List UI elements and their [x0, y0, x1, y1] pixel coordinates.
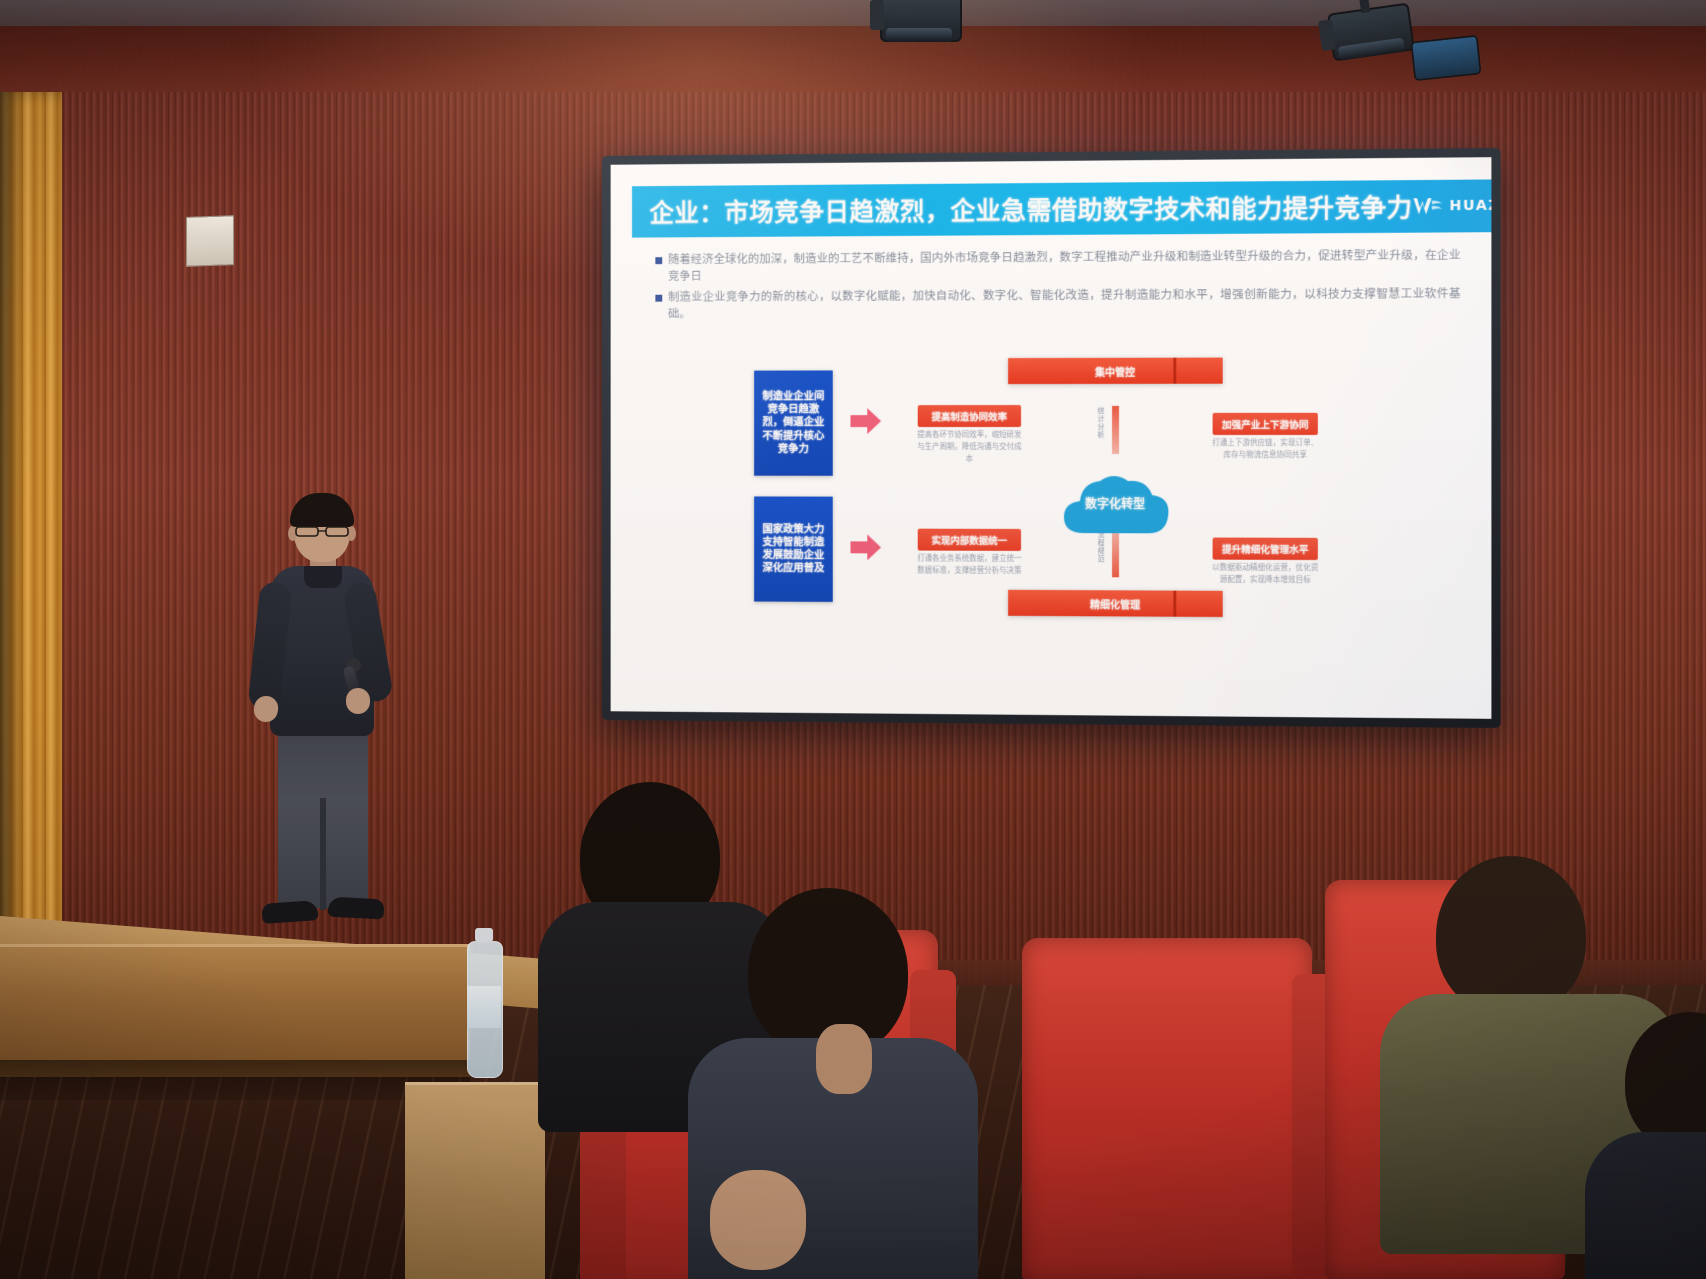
display-panel: 企业：市场竞争日趋激烈，企业急需借助数字技术和能力提升竞争力 HUAZHI 随着 [611, 157, 1492, 719]
slide-diagram: 制造业企业间竞争日趋激烈，倒逼企业不断提升核心竞争力 国家政策大力支持智能制造发… [611, 350, 1492, 715]
presenter-leg-split [320, 798, 326, 910]
arrow-right-icon [849, 406, 883, 436]
auditorium-photo: 企业：市场竞争日趋激烈，企业急需借助数字技术和能力提升竞争力 HUAZHI 随着 [0, 0, 1706, 1279]
w-wing-mark [1413, 195, 1444, 217]
curtain-shadow [0, 92, 24, 992]
brand-logo: HUAZHI [1413, 194, 1492, 217]
audience-shoulders [1585, 1132, 1706, 1279]
stage-shadow [0, 1060, 470, 1100]
outcome-body-fine-mgmt: 以数据驱动精细化运营，优化资源配置，实现降本增效目标 [1211, 562, 1320, 587]
side-table [405, 1082, 545, 1279]
center-bar-fine-mgmt: 精细化管理 [1008, 590, 1223, 617]
bullet-item: 随着经济全球化的加深，制造业的工艺不断维持，国内外市场竞争日趋激烈，数字工程推动… [655, 247, 1460, 285]
slide-bullets: 随着经济全球化的加深，制造业的工艺不断维持，国内外市场竞争日趋激烈，数字工程推动… [655, 247, 1460, 327]
presenter-collar [304, 566, 342, 588]
bullet-text: 制造业企业竞争力的新的核心，以数字化赋能，加快自动化、数字化、智能化改造，提升制… [668, 285, 1461, 322]
axis-label-analysis: 统计分析 [1096, 407, 1106, 439]
ceiling-spotlight [880, 0, 962, 42]
bullet-square-icon [655, 257, 662, 264]
spotlight-housing [1411, 35, 1482, 81]
bar-notch [1173, 591, 1176, 617]
audience-head [1436, 856, 1586, 1016]
presenter-hand-right [346, 688, 370, 714]
spotlight-bracket [870, 0, 884, 30]
spotlight-lens [886, 28, 952, 42]
slide-canvas: 企业：市场竞争日趋激烈，企业急需借助数字技术和能力提升竞争力 HUAZHI 随着 [611, 157, 1492, 719]
bottle-cap [475, 928, 493, 942]
outcome-body-supply-chain: 打通上下游供应链，实现订单、库存与物流信息协同共享 [1211, 437, 1320, 461]
bullet-text: 随着经济全球化的加深，制造业的工艺不断维持，国内外市场竞争日趋激烈，数字工程推动… [668, 247, 1461, 285]
cloud-label: 数字化转型 [1056, 495, 1174, 512]
center-bar-control-label: 集中管控 [1095, 363, 1135, 378]
digital-transformation-cloud: 数字化转型 [1056, 467, 1174, 541]
audience-hand [710, 1170, 806, 1270]
need-title-collaboration: 提高制造协同效率 [918, 405, 1021, 427]
ceiling-spotlight [1411, 35, 1482, 81]
eyeglasses-icon [295, 526, 349, 537]
driver-box-competition: 制造业企业间竞争日趋激烈，倒逼企业不断提升核心竞争力 [754, 370, 833, 475]
bullet-item: 制造业企业竞争力的新的核心，以数字化赋能，加快自动化、数字化、智能化改造，提升制… [655, 285, 1460, 322]
logo-text: HUAZHI [1449, 197, 1491, 214]
wall-speaker-box [186, 215, 234, 267]
presentation-display[interactable]: 企业：市场竞争日趋激烈，企业急需借助数字技术和能力提升竞争力 HUAZHI 随着 [602, 148, 1501, 728]
center-bar-fine-mgmt-label: 精细化管理 [1090, 596, 1140, 611]
need-title-data-unify: 实现内部数据统一 [918, 529, 1021, 551]
outcome-title-supply-chain: 加强产业上下游协同 [1213, 413, 1318, 435]
outcome-title-fine-mgmt: 提升精细化管理水平 [1213, 538, 1318, 561]
slide-title: 企业：市场竞争日趋激烈，企业急需借助数字技术和能力提升竞争力 [650, 188, 1413, 229]
arrow-right-icon [849, 532, 883, 562]
need-body-collaboration: 提高各环节协同效率，缩短研发与生产周期，降低沟通与交付成本 [916, 429, 1023, 465]
spotlight-arm [1358, 0, 1370, 13]
presenter-shoe-left [261, 900, 318, 924]
ceiling-strip [0, 0, 1706, 26]
bottle-label [467, 986, 501, 1028]
audience-face [816, 1024, 872, 1094]
stage-platform-front [0, 944, 470, 1077]
presenter-shoe-right [328, 897, 385, 920]
driver-box-policy: 国家政策大力支持智能制造发展鼓励企业深化应用普及 [754, 496, 833, 601]
need-body-data-unify: 打通各业务系统数据，建立统一数据标准，支撑经营分析与决策 [916, 553, 1023, 577]
center-connector-top [1112, 406, 1119, 454]
seat-back [1022, 938, 1312, 1279]
presenter-hair [290, 493, 354, 527]
slide-title-bar: 企业：市场竞争日趋激烈，企业急需借助数字技术和能力提升竞争力 HUAZHI [632, 179, 1491, 237]
bullet-square-icon [655, 295, 662, 302]
bar-notch [1173, 358, 1176, 384]
water-bottle [466, 928, 502, 1076]
center-bar-control: 集中管控 [1008, 358, 1223, 385]
presenter-speaking [248, 498, 398, 968]
